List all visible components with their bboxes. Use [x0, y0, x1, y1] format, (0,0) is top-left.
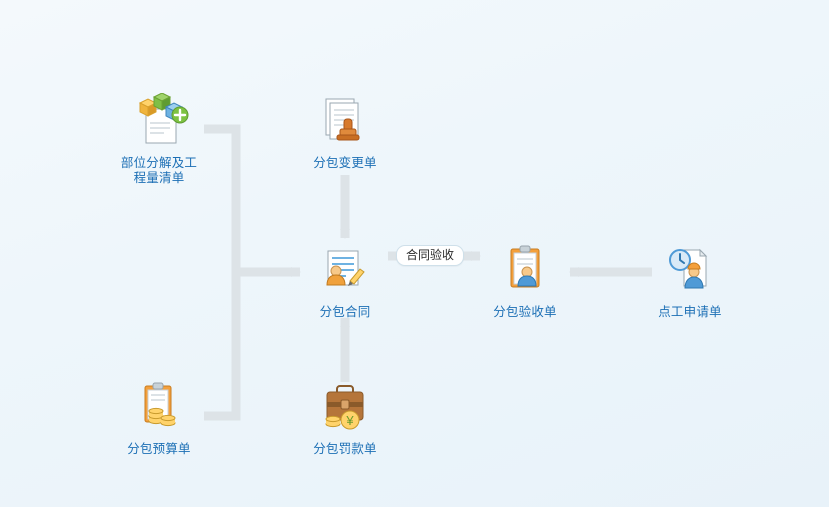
node-sub-budget[interactable]: 分包预算单 [89, 378, 229, 457]
node-daywork-request[interactable]: 点工申请单 [620, 241, 760, 320]
clipboard-person-icon [455, 241, 595, 299]
node-sub-change-order[interactable]: 分包变更单 [275, 92, 415, 171]
node-label: 分包验收单 [455, 305, 595, 320]
briefcase-yen-icon: ¥ [275, 378, 415, 436]
node-sub-acceptance[interactable]: 分包验收单 [455, 241, 595, 320]
worker-clock-icon [620, 241, 760, 299]
diagram-canvas: 合同验收 [0, 0, 829, 507]
node-label: 部位分解及工程量清单 [89, 156, 229, 186]
boxes-document-icon [89, 92, 229, 150]
node-sub-penalty[interactable]: ¥ 分包罚款单 [275, 378, 415, 457]
node-label: 分包合同 [275, 305, 415, 320]
node-label: 分包预算单 [89, 442, 229, 457]
node-label: 点工申请单 [620, 305, 760, 320]
stamp-document-icon [275, 92, 415, 150]
contract-person-icon [275, 241, 415, 299]
clipboard-coins-icon [89, 378, 229, 436]
node-sub-contract[interactable]: 分包合同 [275, 241, 415, 320]
node-budget-decomposition[interactable]: 部位分解及工程量清单 [89, 92, 229, 186]
node-label: 分包罚款单 [275, 442, 415, 457]
node-label: 分包变更单 [275, 156, 415, 171]
svg-text:¥: ¥ [345, 413, 354, 428]
